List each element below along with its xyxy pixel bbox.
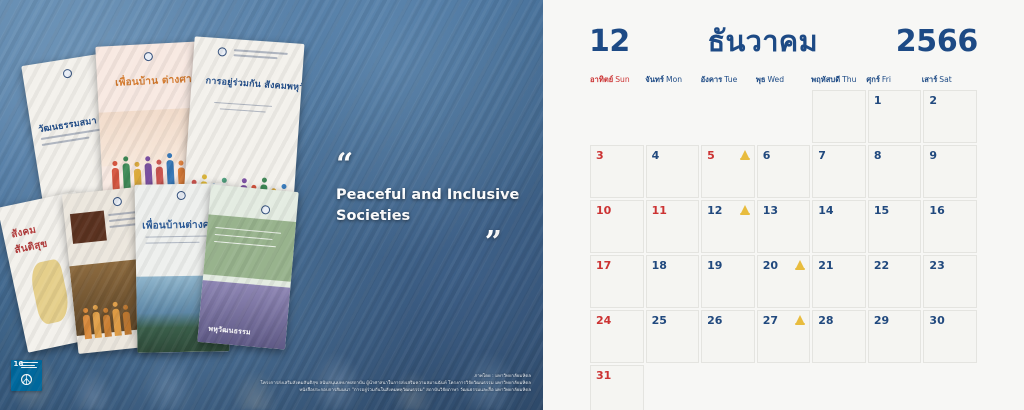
calendar-cell-empty xyxy=(646,90,700,143)
calendar-day-cell[interactable]: 25 xyxy=(646,310,700,363)
calendar-cell-empty xyxy=(646,365,700,410)
year-label: 2566 xyxy=(896,24,978,59)
caption-line: ภาพโดย : มหาวิทยาลัยมหิดล xyxy=(261,373,531,380)
day-of-week-thu: พฤหัสบดีThu xyxy=(811,74,866,86)
day-number: 9 xyxy=(929,149,937,162)
book-cover: พหุวัฒนธรรม xyxy=(197,184,298,349)
calendar-grid: 1234567891011121314151617181920212223242… xyxy=(590,90,977,410)
day-of-week-wed: พุธWed xyxy=(756,74,811,86)
peace-dove-icon: ☮ xyxy=(17,373,36,388)
dow-thai: ศุกร์ xyxy=(866,75,880,84)
dow-thai: อาทิตย์ xyxy=(590,75,613,84)
day-number: 18 xyxy=(652,259,667,272)
quote-open-icon: “ xyxy=(336,156,528,174)
photo-panel: วัฒนธรรมสมา เพื่อนบ้าน ต่างศาสนา xyxy=(0,0,543,410)
calendar-day-cell[interactable]: 6 xyxy=(757,145,811,198)
calendar-day-cell[interactable]: 8 xyxy=(868,145,922,198)
day-number: 5 xyxy=(707,149,715,162)
dow-english: Sun xyxy=(615,75,629,84)
calendar-day-cell[interactable]: 12 xyxy=(701,200,755,253)
day-of-week-sat: เสาร์Sat xyxy=(922,74,977,86)
book-title: การอยู่ร่วมกัน สังคมพหุวัฒนธรรม xyxy=(205,73,304,96)
calendar-day-cell[interactable]: 1 xyxy=(868,90,922,143)
book-collage: วัฒนธรรมสมา เพื่อนบ้าน ต่างศาสนา xyxy=(8,40,318,360)
day-number: 11 xyxy=(652,204,667,217)
month-name: ธันวาคม xyxy=(708,18,818,64)
day-number: 13 xyxy=(763,204,778,217)
photo-caption: ภาพโดย : มหาวิทยาลัยมหิดล โครงการส่งเสริ… xyxy=(261,373,531,394)
dow-thai: อังคาร xyxy=(701,75,723,84)
calendar-day-cell[interactable]: 22 xyxy=(868,255,922,308)
day-number: 20 xyxy=(763,259,778,272)
dow-english: Thu xyxy=(842,75,856,84)
calendar-day-cell[interactable]: 29 xyxy=(868,310,922,363)
buddhist-holy-day-icon xyxy=(741,150,749,158)
calendar-day-cell[interactable]: 27 xyxy=(757,310,811,363)
calendar-day-cell[interactable]: 30 xyxy=(923,310,977,363)
dow-english: Mon xyxy=(666,75,682,84)
calendar-panel: 12 ธันวาคม 2566 อาทิตย์Sunจันทร์Monอังคา… xyxy=(543,0,1024,410)
day-number: 3 xyxy=(596,149,604,162)
calendar-day-cell[interactable]: 16 xyxy=(923,200,977,253)
day-number: 31 xyxy=(596,369,611,382)
calendar-day-cell[interactable]: 24 xyxy=(590,310,644,363)
dow-thai: เสาร์ xyxy=(922,75,938,84)
calendar-day-cell[interactable]: 10 xyxy=(590,200,644,253)
caption-line: หนังสือประกอบการสัมมนา "การอยู่ร่วมกันใน… xyxy=(261,387,531,394)
month-number: 12 xyxy=(589,24,630,59)
calendar-cell-empty xyxy=(701,90,755,143)
day-number: 29 xyxy=(874,314,889,327)
calendar-cell-empty xyxy=(868,365,922,410)
day-number: 1 xyxy=(874,94,882,107)
calendar-day-cell[interactable]: 3 xyxy=(590,145,644,198)
calendar-cell-empty xyxy=(590,90,644,143)
day-number: 27 xyxy=(763,314,778,327)
calendar-day-cell[interactable]: 15 xyxy=(868,200,922,253)
day-number: 15 xyxy=(874,204,889,217)
day-number: 25 xyxy=(652,314,667,327)
calendar-cell-empty xyxy=(812,365,866,410)
day-of-week-tue: อังคารTue xyxy=(701,74,756,86)
calendar-day-cell[interactable]: 20 xyxy=(757,255,811,308)
calendar-day-cell[interactable]: 31 xyxy=(590,365,644,410)
buddhist-holy-day-icon xyxy=(796,260,804,268)
day-number: 23 xyxy=(929,259,944,272)
day-number: 7 xyxy=(818,149,826,162)
calendar-day-cell[interactable]: 17 xyxy=(590,255,644,308)
caption-line: โครงการส่งเสริมสังคมสันติสุข สนับสนุนบทบ… xyxy=(261,380,531,387)
calendar-day-cell[interactable]: 11 xyxy=(646,200,700,253)
day-number: 30 xyxy=(929,314,944,327)
calendar-day-cell[interactable]: 18 xyxy=(646,255,700,308)
day-number: 19 xyxy=(707,259,722,272)
calendar-cell-empty xyxy=(757,365,811,410)
dow-english: Fri xyxy=(882,75,891,84)
book-seal-icon xyxy=(112,197,122,207)
day-number: 21 xyxy=(818,259,833,272)
buddhist-holy-day-icon xyxy=(741,205,749,213)
day-of-week-fri: ศุกร์Fri xyxy=(866,74,921,86)
dow-english: Sat xyxy=(939,75,951,84)
day-number: 17 xyxy=(596,259,611,272)
day-number: 12 xyxy=(707,204,722,217)
calendar-day-cell[interactable]: 19 xyxy=(701,255,755,308)
dow-thai: พฤหัสบดี xyxy=(811,75,840,84)
day-number: 14 xyxy=(818,204,833,217)
calendar-header: 12 ธันวาคม 2566 xyxy=(543,0,1024,64)
day-number: 16 xyxy=(929,204,944,217)
calendar-day-cell[interactable]: 9 xyxy=(923,145,977,198)
calendar-cell-empty xyxy=(701,365,755,410)
day-of-week-sun: อาทิตย์Sun xyxy=(590,74,645,86)
day-of-week-header: อาทิตย์Sunจันทร์MonอังคารTueพุธWedพฤหัสบ… xyxy=(590,74,977,86)
calendar-cell-empty xyxy=(923,365,977,410)
book-seal-icon xyxy=(217,47,227,57)
day-number: 4 xyxy=(652,149,660,162)
day-number: 22 xyxy=(874,259,889,272)
day-number: 2 xyxy=(929,94,937,107)
calendar-day-cell[interactable]: 26 xyxy=(701,310,755,363)
book-seal-icon xyxy=(62,68,72,78)
day-number: 26 xyxy=(707,314,722,327)
book-seal-icon xyxy=(144,52,153,61)
sdg-name-lines xyxy=(21,362,38,370)
calendar-day-cell[interactable]: 14 xyxy=(812,200,866,253)
day-of-week-mon: จันทร์Mon xyxy=(645,74,700,86)
dow-english: Wed xyxy=(767,75,784,84)
dow-english: Tue xyxy=(724,75,737,84)
calendar-day-cell[interactable]: 13 xyxy=(757,200,811,253)
buddhist-holy-day-icon xyxy=(796,315,804,323)
quote-text: Peaceful and Inclusive Societies xyxy=(336,185,528,226)
day-number: 24 xyxy=(596,314,611,327)
calendar-day-cell[interactable] xyxy=(812,90,866,143)
calendar-day-cell[interactable]: 23 xyxy=(923,255,977,308)
quote-close-icon: ” xyxy=(332,234,502,252)
calendar-day-cell[interactable]: 7 xyxy=(812,145,866,198)
quote-block: “ Peaceful and Inclusive Societies ” xyxy=(332,156,528,252)
book-seal-icon xyxy=(261,205,271,215)
calendar-day-cell[interactable]: 5 xyxy=(701,145,755,198)
calendar-day-cell[interactable]: 2 xyxy=(923,90,977,143)
sdg-16-badge: 16 ☮ xyxy=(11,360,42,391)
calendar-cell-empty xyxy=(757,90,811,143)
day-number: 6 xyxy=(763,149,771,162)
calendar-day-cell[interactable]: 28 xyxy=(812,310,866,363)
calendar-day-cell[interactable]: 4 xyxy=(646,145,700,198)
dow-thai: จันทร์ xyxy=(645,75,664,84)
day-number: 8 xyxy=(874,149,882,162)
day-number: 10 xyxy=(596,204,611,217)
day-number: 28 xyxy=(818,314,833,327)
dow-thai: พุธ xyxy=(756,75,766,84)
calendar-day-cell[interactable]: 21 xyxy=(812,255,866,308)
book-seal-icon xyxy=(177,191,186,200)
